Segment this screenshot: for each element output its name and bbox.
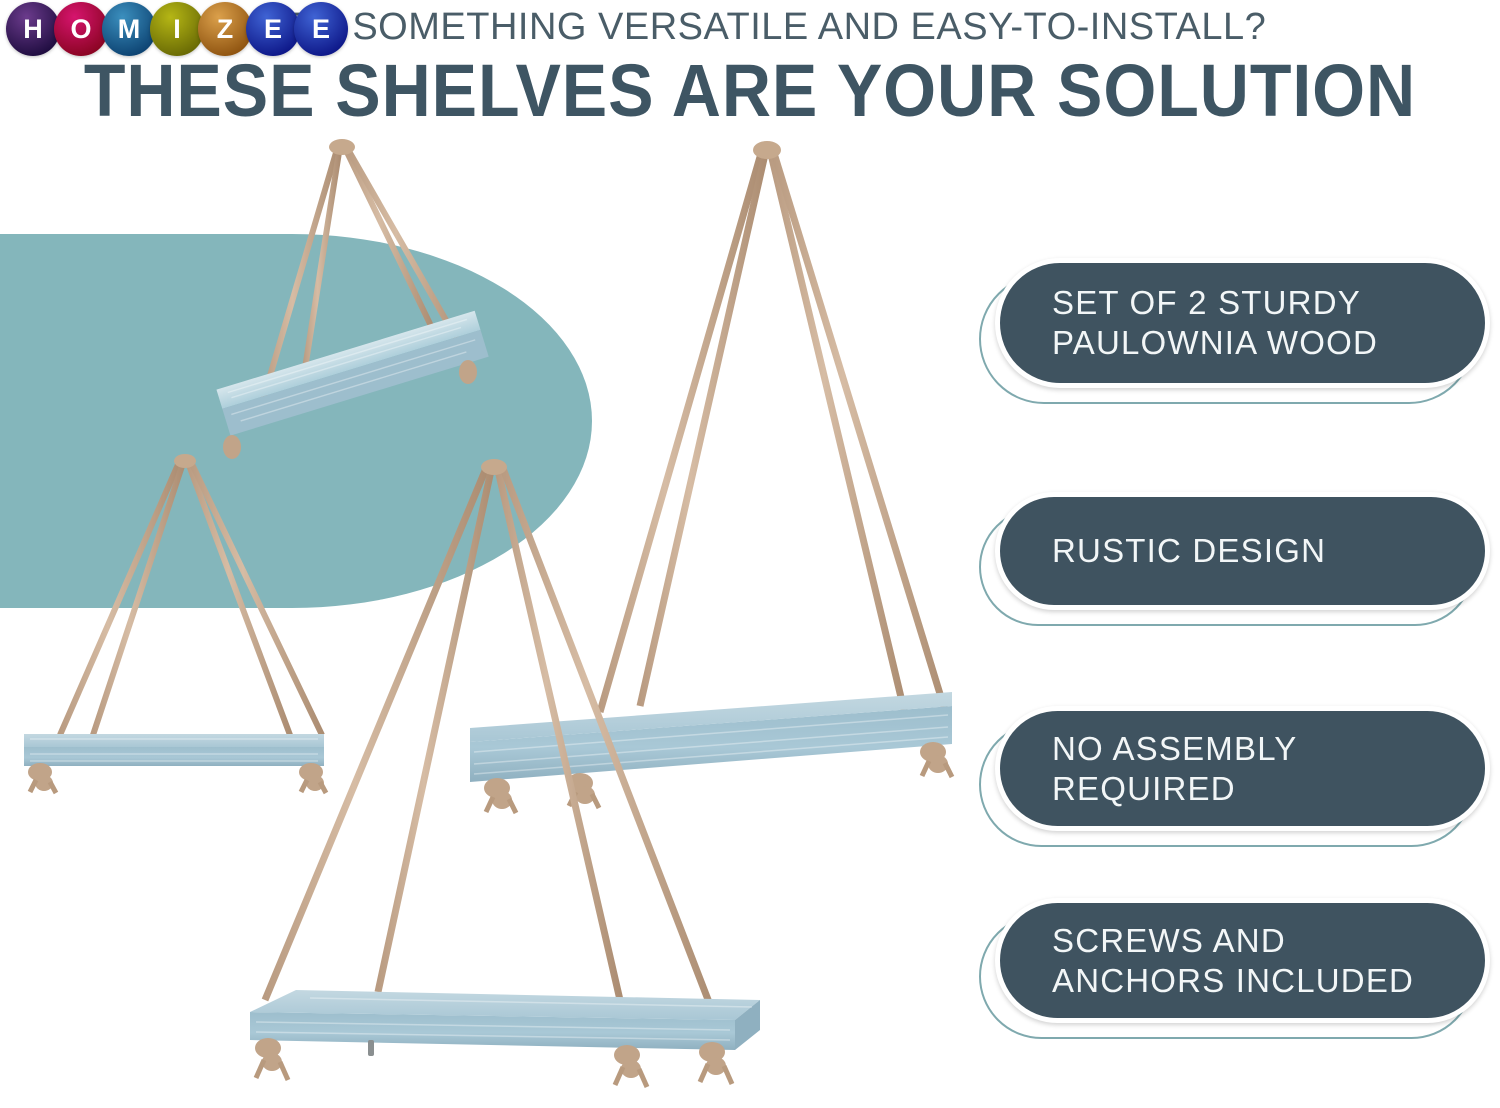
brand-logo[interactable]: HOMIZEE <box>6 2 342 56</box>
page-title: THESE SHELVES ARE YOUR SOLUTION <box>60 52 1440 130</box>
feature-callout-rustic-design[interactable]: RUSTIC DESIGN <box>995 492 1490 610</box>
shelf-small-left <box>24 454 326 793</box>
brand-logo-letter-i-3: I <box>150 2 204 56</box>
feature-callout-screws-anchors[interactable]: SCREWS AND ANCHORS INCLUDED <box>995 898 1490 1023</box>
feature-label: SCREWS AND ANCHORS INCLUDED <box>1052 921 1414 1001</box>
shelf-large-center <box>470 141 952 813</box>
feature-callout-set-of-2[interactable]: SET OF 2 STURDY PAULOWNIA WOOD <box>995 258 1490 388</box>
feature-body: SCREWS AND ANCHORS INCLUDED <box>995 898 1490 1023</box>
feature-body: SET OF 2 STURDY PAULOWNIA WOOD <box>995 258 1490 388</box>
poster-canvas: NEED SOMETHING VERSATILE AND EASY-TO-INS… <box>0 0 1500 1108</box>
feature-label: SET OF 2 STURDY PAULOWNIA WOOD <box>1052 283 1378 363</box>
brand-logo-letter-o-1: O <box>54 2 108 56</box>
feature-label: NO ASSEMBLY REQUIRED <box>1052 729 1298 809</box>
brand-logo-letter-e-6: E <box>294 2 348 56</box>
brand-logo-letter-z-4: Z <box>198 2 252 56</box>
shelf-tilted-top <box>216 139 488 459</box>
feature-body: RUSTIC DESIGN <box>995 492 1490 610</box>
feature-callout-no-assembly[interactable]: NO ASSEMBLY REQUIRED <box>995 706 1490 831</box>
brand-logo-letter-m-2: M <box>102 2 156 56</box>
feature-label: RUSTIC DESIGN <box>1052 531 1326 571</box>
brand-logo-letter-h-0: H <box>6 2 60 56</box>
feature-body: NO ASSEMBLY REQUIRED <box>995 706 1490 831</box>
brand-logo-letter-e-5: E <box>246 2 300 56</box>
